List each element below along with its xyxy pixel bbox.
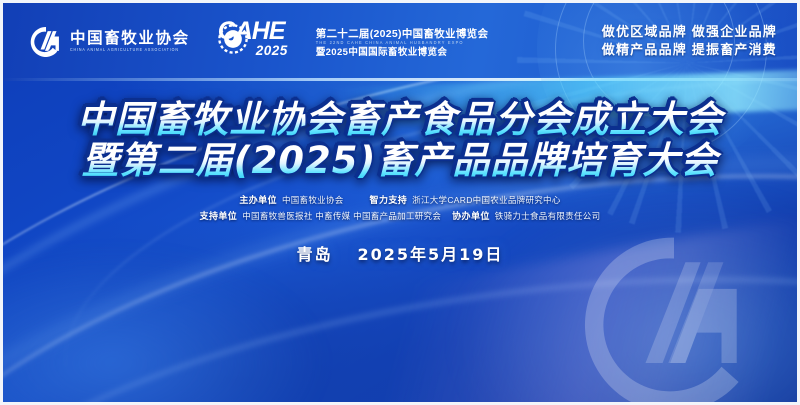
date-text: 2025年5月19日 <box>357 241 503 265</box>
organizer-value-coorganizer: 铁骑力士食品有限责任公司 <box>495 210 601 222</box>
organizer-value-host: 中国畜牧业协会 <box>282 194 344 206</box>
cahe-line-en: THE 22ND CAHE CHINA ANIMAL HUSBANDRY EXP… <box>316 41 489 46</box>
date-location-block: 青岛 2025年5月19日 <box>3 241 797 265</box>
caaa-logo: 中国畜牧业协会 CHINA ANIMAL AGRICULTURE ASSOCIA… <box>29 25 190 59</box>
organizer-block: 主办单位 中国畜牧业协会 智力支持 浙江大学CARD中国农业品牌研究中心 支持单… <box>3 193 797 222</box>
organizer-row: 主办单位 中国畜牧业协会 智力支持 浙江大学CARD中国农业品牌研究中心 <box>239 193 560 206</box>
location-text: 青岛 <box>297 241 333 265</box>
cahe-line-cn-2: 暨2025中国国际畜牧业博览会 <box>316 48 489 58</box>
slogan-line-1: 做优区域品牌 做强企业品牌 <box>602 25 777 38</box>
cahe-acronym: CAHE <box>218 19 285 44</box>
organizer-value-support: 中国畜牧兽医报社 中畜传媒 中国畜产品加工研究会 <box>242 210 441 222</box>
caaa-name-cn: 中国畜牧业协会 <box>70 31 190 47</box>
title-line-1: 中国畜牧业协会畜产食品分会成立大会 <box>3 99 797 140</box>
caaa-name-en: CHINA ANIMAL AGRICULTURE ASSOCIATION <box>70 49 190 53</box>
cahe-logo: CAHE 2025 第二十二届(2025)中国畜牧业博览会 THE 22ND C… <box>218 20 489 64</box>
organizer-value-advisor: 浙江大学CARD中国农业品牌研究中心 <box>412 194 561 206</box>
organizer-label-advisor: 智力支持 <box>370 193 408 206</box>
organizer-row: 支持单位 中国畜牧兽医报社 中畜传媒 中国畜产品加工研究会 协办单位 铁骑力士食… <box>200 209 601 222</box>
background-glow-left <box>0 253 323 405</box>
cahe-year: 2025 <box>256 44 288 58</box>
header-slogan: 做优区域品牌 做强企业品牌 做精产品品牌 提振畜产消费 <box>602 25 777 56</box>
organizer-label-coorganizer: 协办单位 <box>452 209 490 222</box>
title-line-2: 暨第二届(2025)畜产品品牌培育大会 <box>3 140 797 181</box>
cahe-line-cn-1: 第二十二届(2025)中国畜牧业博览会 <box>316 29 489 40</box>
main-title-block: 中国畜牧业协会畜产食品分会成立大会 暨第二届(2025)畜产品品牌培育大会 <box>3 99 797 182</box>
banner-header: 中国畜牧业协会 CHINA ANIMAL AGRICULTURE ASSOCIA… <box>3 3 797 81</box>
organizer-label-support: 支持单位 <box>200 209 238 222</box>
conference-banner: 中国畜牧业协会 CHINA ANIMAL AGRICULTURE ASSOCIA… <box>0 0 800 405</box>
slogan-line-2: 做精产品品牌 提振畜产消费 <box>602 43 777 56</box>
cahe-emblem-icon: CAHE 2025 <box>218 20 310 64</box>
organizer-label-host: 主办单位 <box>239 193 277 206</box>
caaa-emblem-icon <box>29 25 63 59</box>
